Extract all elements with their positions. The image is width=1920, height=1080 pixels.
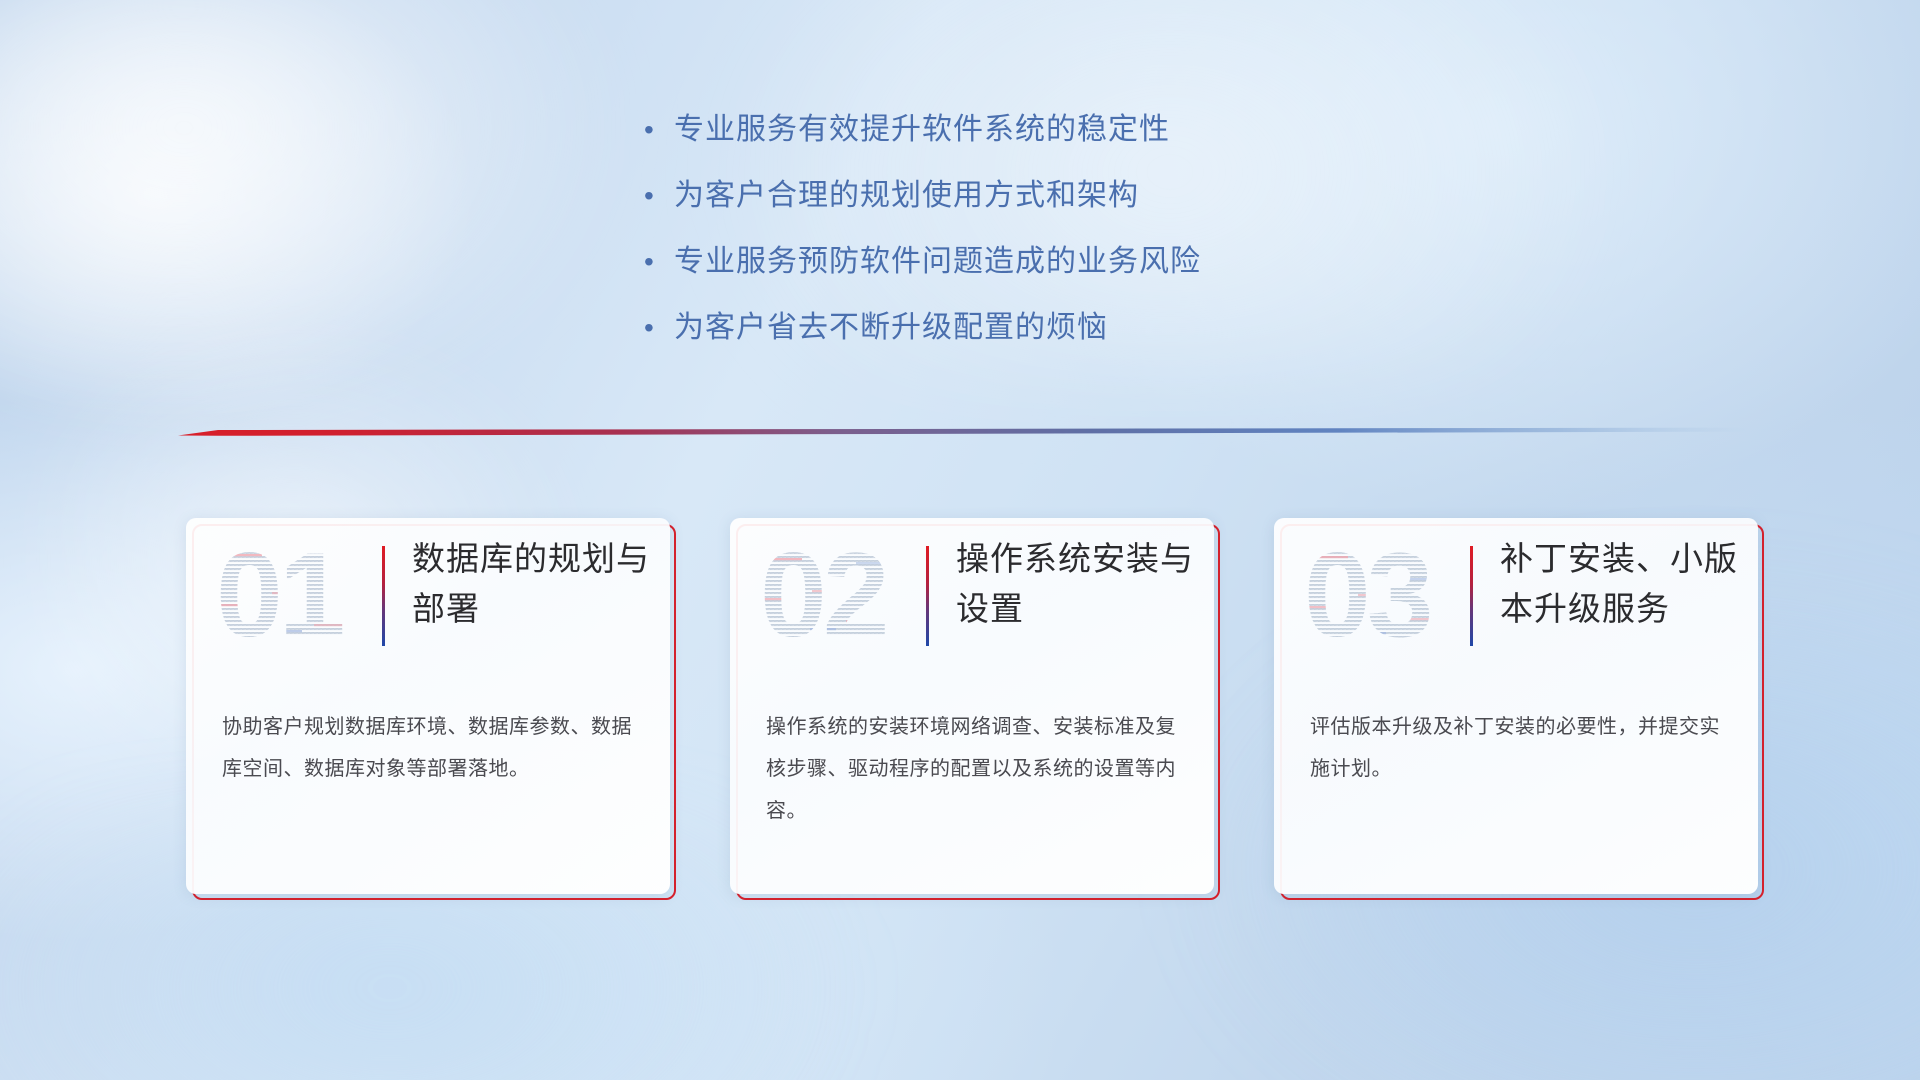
scanline-number-svg: 03 <box>1302 532 1452 662</box>
card-title: 操作系统安装与设置 <box>956 534 1200 634</box>
card-surface: 02 <box>730 518 1214 894</box>
card-surface: 03 <box>1274 518 1758 894</box>
card-accent-bar <box>382 546 385 646</box>
card-description: 协助客户规划数据库环境、数据库参数、数据库空间、数据库对象等部署落地。 <box>222 706 642 790</box>
scanline-number-svg: 01 <box>214 532 364 662</box>
bullet-text: 为客户合理的规划使用方式和架构 <box>674 176 1139 216</box>
card-title: 补丁安装、小版本升级服务 <box>1500 534 1744 634</box>
card-number-scanline-graphic: 03 <box>1302 532 1452 662</box>
bullet-text: 专业服务预防软件问题造成的业务风险 <box>674 242 1201 282</box>
bullet-dot-icon: • <box>640 110 674 150</box>
card-header: 03 <box>1274 518 1758 690</box>
bullet-dot-icon: • <box>640 308 674 348</box>
bullet-text: 为客户省去不断升级配置的烦恼 <box>674 308 1108 348</box>
list-item: • 专业服务预防软件问题造成的业务风险 <box>640 242 1540 282</box>
slide-canvas: • 专业服务有效提升软件系统的稳定性 • 为客户合理的规划使用方式和架构 • 专… <box>0 0 1920 1080</box>
list-item: • 为客户合理的规划使用方式和架构 <box>640 176 1540 216</box>
card-title: 数据库的规划与部署 <box>412 534 656 634</box>
card-header: 01 <box>186 518 670 690</box>
bullet-text: 专业服务有效提升软件系统的稳定性 <box>674 110 1170 150</box>
card-number-scanline-graphic: 01 <box>214 532 364 662</box>
service-card[interactable]: 02 <box>730 518 1220 900</box>
service-card[interactable]: 01 <box>186 518 676 900</box>
card-accent-bar <box>926 546 929 646</box>
divider-graphic <box>178 424 1748 440</box>
card-number-scanline-graphic: 02 <box>758 532 908 662</box>
bullet-dot-icon: • <box>640 176 674 216</box>
service-cards: 01 <box>186 518 1766 900</box>
bullet-dot-icon: • <box>640 242 674 282</box>
benefits-bullet-list: • 专业服务有效提升软件系统的稳定性 • 为客户合理的规划使用方式和架构 • 专… <box>640 110 1540 374</box>
background-light-flare <box>0 0 640 440</box>
card-header: 02 <box>730 518 1214 690</box>
card-description: 评估版本升级及补丁安装的必要性，并提交实施计划。 <box>1310 706 1730 790</box>
scanline-number-svg: 02 <box>758 532 908 662</box>
service-card[interactable]: 03 <box>1274 518 1764 900</box>
card-surface: 01 <box>186 518 670 894</box>
card-description: 操作系统的安装环境网络调查、安装标准及复核步骤、驱动程序的配置以及系统的设置等内… <box>766 706 1186 832</box>
list-item: • 专业服务有效提升软件系统的稳定性 <box>640 110 1540 150</box>
card-accent-bar <box>1470 546 1473 646</box>
section-divider <box>178 424 1748 440</box>
list-item: • 为客户省去不断升级配置的烦恼 <box>640 308 1540 348</box>
